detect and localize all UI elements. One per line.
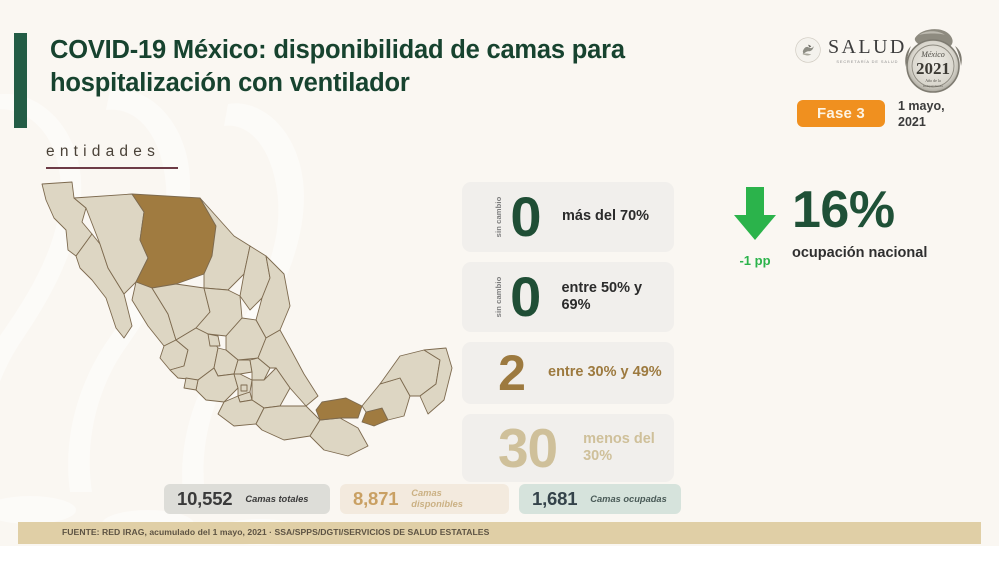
card-value: 30 [482,425,573,472]
occupancy-category-cards: sin cambio 0 más del 70% sin cambio 0 en… [462,182,674,492]
mexico-choropleth-map [28,178,476,478]
national-occupancy-block: -1 pp 16% ocupación nacional [718,185,988,268]
report-date-line1: 1 mayo,2021 [898,99,945,129]
salud-wordmark: SALUD [828,37,907,57]
card-30-to-49: 2 entre 30% y 49% [462,342,674,404]
card-label: menos del 30% [583,431,674,466]
arrow-down-icon [718,185,792,248]
card-less-than-30: 30 menos del 30% [462,414,674,482]
footer-source-text: FUENTE: RED IRAG, acumulado del 1 mayo, … [62,527,489,537]
occupancy-percent: 16% [792,187,927,235]
card-change-note: sin cambio [494,277,503,318]
svg-text:Independencia: Independencia [923,84,943,88]
card-change-note: sin cambio [494,197,503,238]
salud-logo: SALUD SECRETARÍA DE SALUD [795,37,907,63]
card-value: 2 [486,352,538,395]
bed-count-row: 10,552 Camas totales 8,871 Camas disponi… [164,484,681,514]
entidades-label: entidades [46,143,178,161]
pill-label: Camas ocupadas [590,494,666,505]
slide-root: COVID-19 México: disponibilidad de camas… [0,0,999,562]
state-chiapas [310,418,368,456]
pill-label: Camas totales [245,494,308,505]
salud-subtitle: SECRETARÍA DE SALUD [828,60,907,64]
pill-label: Camas disponibles [411,488,496,510]
occupancy-caption: ocupación nacional [792,245,927,261]
mexican-eagle-icon [795,37,821,63]
card-more-than-70: sin cambio 0 más del 70% [462,182,674,252]
state-colima [184,378,198,390]
entidades-underline [46,167,178,169]
entidades-header: entidades [46,143,178,169]
state-aguascalientes [208,334,220,346]
card-value: 0 [500,193,552,241]
card-value: 0 [500,273,551,321]
svg-text:2021: 2021 [916,59,950,78]
pill-camas-ocupadas: 1,681 Camas ocupadas [519,484,681,514]
fase-badge: Fase 3 [797,100,885,127]
svg-text:Año de la: Año de la [925,78,941,83]
svg-text:México: México [920,50,945,59]
occupancy-delta: -1 pp [718,253,792,268]
pill-value: 1,681 [532,488,577,510]
state-chihuahua [132,194,216,288]
report-date: 1 mayo,2021 [898,99,968,130]
pill-camas-disponibles: 8,871 Camas disponibles [340,484,509,514]
state-tabasco [316,398,362,420]
bottom-white-strip [0,546,999,562]
page-title: COVID-19 México: disponibilidad de camas… [50,34,670,99]
pill-value: 10,552 [177,488,232,510]
card-label: entre 30% y 49% [548,364,662,381]
mexico-2021-seal: México 2021 Año de la Independencia [897,22,969,96]
pill-camas-totales: 10,552 Camas totales [164,484,330,514]
card-label: más del 70% [562,208,649,225]
card-50-to-69: sin cambio 0 entre 50% y 69% [462,262,674,332]
state-cdmx [241,385,247,391]
card-label: entre 50% y 69% [561,280,674,315]
title-accent-bar [14,33,27,128]
pill-value: 8,871 [353,488,398,510]
